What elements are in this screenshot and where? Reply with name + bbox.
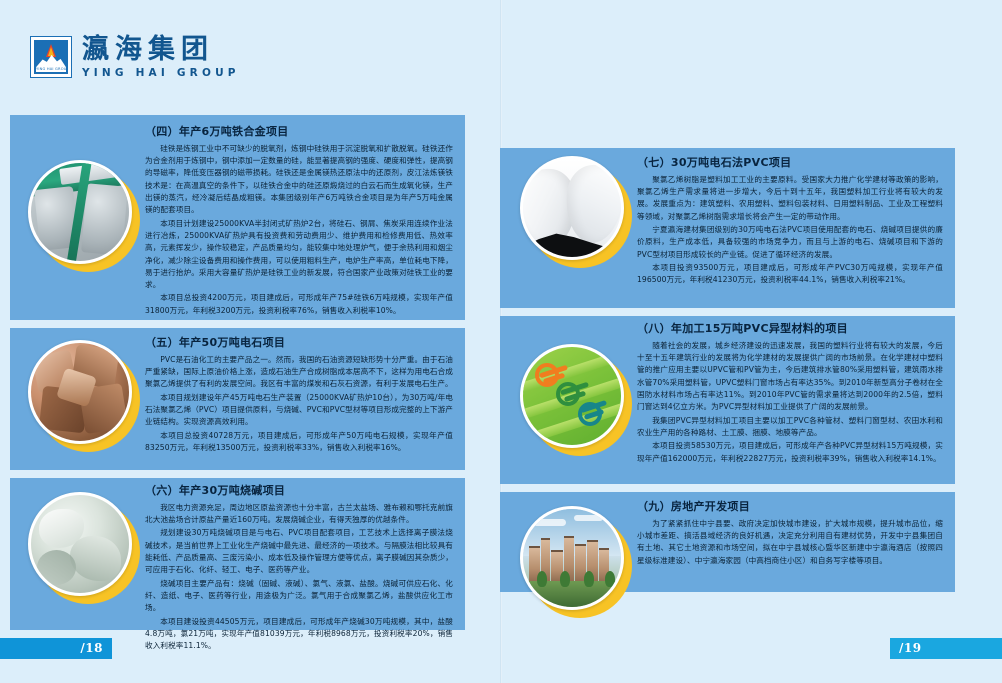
- brochure-spread: YING HAI GROUP 瀛海集团 YING HAI GROUP （四）年产…: [0, 0, 1002, 683]
- section-nine-title: （九）房地产开发项目: [637, 500, 943, 515]
- photo-caustic: [28, 492, 140, 604]
- section-six-paragraph-4: 本项目建设投资44505万元，项目建成后，可形成年产烧碱30万吨规模，其中，盐酸…: [145, 616, 453, 653]
- section-four-paragraph-2: 本项目计划建设25000KVA半封闭式矿热炉2台，将硅石、钢屑、焦炭采用连续作业…: [145, 218, 453, 292]
- photo-pvc-profile: [520, 344, 632, 456]
- flame-inner-icon: [48, 47, 54, 56]
- section-six-paragraph-3: 烧碱项目主要产品有：烧碱（固碱、液碱）、氯气、液氯、盐酸。烧碱可供应石化、化纤、…: [145, 578, 453, 615]
- panel-section-nine: （九）房地产开发项目 为了紧紧抓住中宁县要、政府决定加快城市建设，扩大城市规模，…: [500, 492, 955, 592]
- section-eight-paragraph-1: 随着社会的发展，城乡经济建设的迅速发展，我国的塑料行业将有较大的发展，今后十至十…: [637, 340, 943, 414]
- photo-real-estate: [520, 506, 632, 618]
- logo-base-text: YING HAI GROUP: [36, 67, 66, 72]
- calcium-carbide-rock-photo: [28, 340, 132, 444]
- photo-carbide: [28, 340, 140, 452]
- section-nine-paragraph-1: 为了紧紧抓住中宁县要、政府决定加快城市建设，扩大城市规模，提升城市品位，缩小城市…: [637, 518, 943, 567]
- logo-name-en: YING HAI GROUP: [82, 68, 240, 79]
- section-seven-paragraph-2: 宁夏瀛海建材集团级别的30万吨电石法PVC项目使用配套的电石、烧碱项目提供的廉价…: [637, 224, 943, 261]
- left-page-number: /18: [80, 638, 103, 659]
- section-eight-paragraph-2: 我集团PVC异型材料加工项目主要以加工PVC各种管材、塑料门窗型材、农田水利和农…: [637, 415, 943, 440]
- section-four-paragraph-1: 硅铁是炼钢工业中不可缺少的脱氧剂，炼钢中硅铁用于沉淀脱氧和扩散脱氧。硅铁还作为合…: [145, 143, 453, 217]
- panel-section-six: （六）年产30万吨烧碱项目 我区电力资源充足，周边地区原盐资源也十分丰富，古兰太…: [10, 478, 465, 630]
- logo-mark-icon: YING HAI GROUP: [30, 36, 72, 78]
- pvc-resin-bags-photo: [520, 156, 624, 260]
- section-five-paragraph-2: 本项目规划建设年产45万吨电石生产装置（25000KVA矿热炉10台），为30万…: [145, 392, 453, 429]
- panel-section-seven: （七）30万吨电石法PVC项目 聚氯乙烯树脂是塑料加工工业的主要原料。受国家大力…: [500, 148, 955, 308]
- section-four-title: （四）年产6万吨铁合金项目: [145, 125, 453, 140]
- panel-section-eight: （八）年加工15万吨PVC异型材料的项目 随着社会的发展，城乡经济建设的迅速发展…: [500, 316, 955, 484]
- caustic-soda-photo: [28, 492, 132, 596]
- section-six-paragraph-2: 规划建设30万吨烧碱项目是与电石、PVC项目配套项目，工艺技术上选择离子膜法烧碱…: [145, 527, 453, 576]
- section-eight-paragraph-3: 本项目投资58530万元，项目建成后，可形成年产各种PVC异型材料15万吨规模，…: [637, 440, 943, 465]
- logo-wordmark: 瀛海集团 YING HAI GROUP: [82, 36, 240, 79]
- pvc-profile-extrusion-photo: [520, 344, 624, 448]
- ferroalloy-ingot-photo: [28, 160, 132, 264]
- right-page-footer: /19: [890, 638, 1002, 659]
- panel-section-five: （五）年产50万吨电石项目 PVC是石油化工的主要产品之一。然而，我国的石油资源…: [10, 328, 465, 470]
- section-six-paragraph-1: 我区电力资源充足，周边地区原盐资源也十分丰富，古兰太盐场、雅布赖和鄂托克前旗北大…: [145, 502, 453, 527]
- section-six-title: （六）年产30万吨烧碱项目: [145, 484, 453, 499]
- residential-buildings-photo: [520, 506, 624, 610]
- section-eight-title: （八）年加工15万吨PVC异型材料的项目: [637, 322, 943, 337]
- section-four-paragraph-3: 本项目总投资4200万元，项目建成后，可形成年产75#硅铁6万吨规模，实现年产值…: [145, 292, 453, 317]
- section-five-paragraph-1: PVC是石油化工的主要产品之一。然而，我国的石油资源短缺形势十分严重。由于石油严…: [145, 354, 453, 391]
- section-seven-paragraph-1: 聚氯乙烯树脂是塑料加工工业的主要原料。受国家大力推广化学建材等政策的影响，聚氯乙…: [637, 174, 943, 223]
- panel-section-four: （四）年产6万吨铁合金项目 硅铁是炼钢工业中不可缺少的脱氧剂，炼钢中硅铁用于沉淀…: [10, 115, 465, 320]
- photo-pvc-resin: [520, 156, 632, 268]
- left-page-footer: /18: [0, 638, 112, 659]
- right-page-number: /19: [899, 638, 922, 659]
- section-seven-title: （七）30万吨电石法PVC项目: [637, 156, 943, 171]
- logo-name-cn: 瀛海集团: [82, 36, 240, 63]
- section-five-title: （五）年产50万吨电石项目: [145, 336, 453, 351]
- company-logo: YING HAI GROUP 瀛海集团 YING HAI GROUP: [30, 36, 240, 79]
- section-five-paragraph-3: 本项目总投资40728万元，项目建成后，可形成年产50万吨电石规模，实现年产值8…: [145, 430, 453, 455]
- section-seven-paragraph-3: 本项目投资93500万元，项目建成后，可形成年产PVC30万吨规模，实现年产值1…: [637, 262, 943, 287]
- photo-ferroalloy: [28, 160, 140, 272]
